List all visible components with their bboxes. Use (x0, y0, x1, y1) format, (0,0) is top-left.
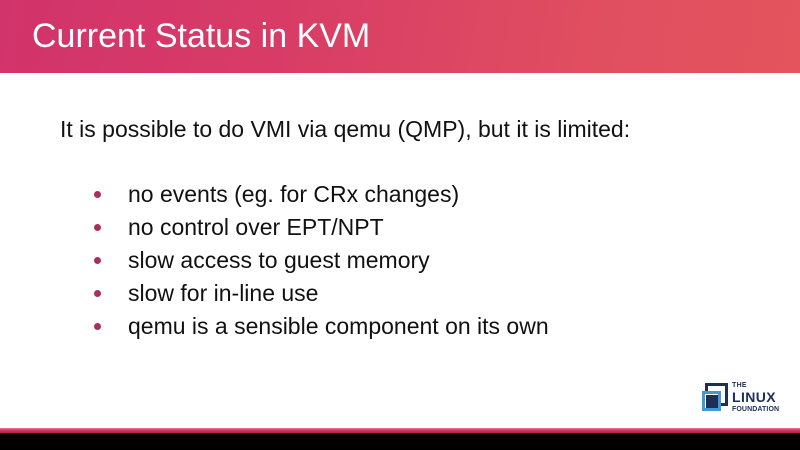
logo-inner-fill (706, 395, 718, 408)
slide-body: It is possible to do VMI via qemu (QMP),… (0, 73, 800, 428)
linux-foundation-wordmark: THE LINUX FOUNDATION (732, 382, 792, 414)
list-item: qemu is a sensible component on its own (60, 310, 680, 343)
list-item-label: slow access to guest memory (128, 247, 430, 273)
logo-line-foundation: FOUNDATION (732, 405, 792, 414)
bullet-dot-icon (94, 224, 101, 231)
list-item-label: no events (eg. for CRx changes) (128, 181, 459, 207)
bullet-list: no events (eg. for CRx changes) no contr… (60, 178, 680, 343)
footer-black-bar (0, 433, 800, 450)
linux-foundation-mark-icon (702, 383, 729, 412)
list-item: slow for in-line use (60, 277, 680, 310)
linux-foundation-logo: THE LINUX FOUNDATION (700, 382, 792, 416)
bullet-dot-icon (94, 323, 101, 330)
list-item: slow access to guest memory (60, 244, 680, 277)
list-item: no control over EPT/NPT (60, 211, 680, 244)
logo-line-linux: LINUX (732, 390, 792, 405)
list-item-label: slow for in-line use (128, 280, 318, 306)
list-item-label: qemu is a sensible component on its own (128, 313, 549, 339)
intro-paragraph: It is possible to do VMI via qemu (QMP),… (60, 113, 660, 146)
list-item: no events (eg. for CRx changes) (60, 178, 680, 211)
bullet-dot-icon (94, 290, 101, 297)
bullet-dot-icon (94, 191, 101, 198)
bullet-dot-icon (94, 257, 101, 264)
slide-header-bar: Current Status in KVM (0, 0, 800, 73)
list-item-label: no control over EPT/NPT (128, 214, 384, 240)
slide-title: Current Status in KVM (32, 13, 370, 59)
presentation-slide: Current Status in KVM It is possible to … (0, 0, 800, 450)
